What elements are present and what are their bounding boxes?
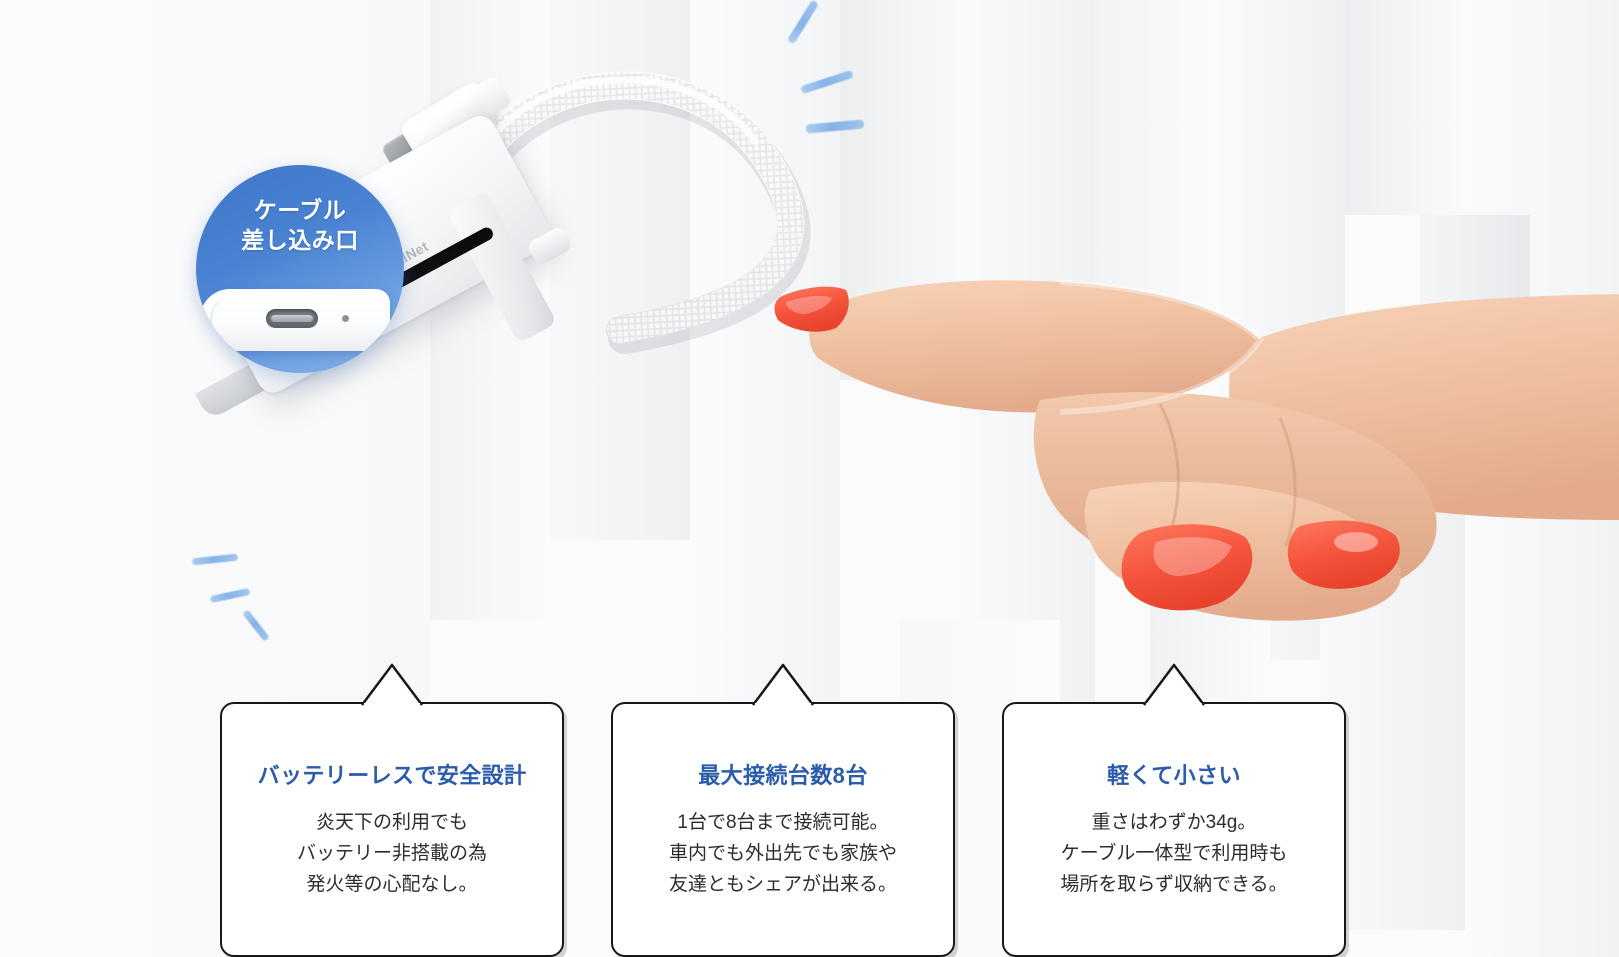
usb-c-port-icon: [266, 309, 318, 328]
feature-title: 最大接続台数8台: [613, 704, 953, 790]
product-image: GlocalNet: [0, 0, 860, 660]
pointing-hand: [760, 190, 1619, 710]
hero-stage: GlocalNet ケーブル 差し込み口: [0, 0, 1619, 957]
feature-card-batteryless[interactable]: バッテリーレスで安全設計 炎天下の利用でも バッテリー非搭載の為 発火等の心配な…: [220, 702, 564, 957]
hand-illustration: [760, 190, 1619, 710]
feature-card-max-devices[interactable]: 最大接続台数8台 1台で8台まで接続可能。 車内でも外出先でも家族や 友達ともシ…: [611, 702, 955, 957]
zoom-callout-label-line2: 差し込み口: [196, 225, 404, 255]
feature-title: 軽くて小さい: [1004, 704, 1344, 790]
feature-card-light-small[interactable]: 軽くて小さい 重さはわずか34g。 ケーブル一体型で利用時も 場所を取らず収納で…: [1002, 702, 1346, 957]
zoom-callout-label: ケーブル 差し込み口: [196, 195, 404, 256]
cable-port-zoom-callout: ケーブル 差し込み口: [196, 165, 404, 373]
feature-body: 1台で8台まで接続可能。 車内でも外出先でも家族や 友達ともシェアが出来る。: [613, 790, 953, 900]
feature-callouts: バッテリーレスで安全設計 炎天下の利用でも バッテリー非搭載の為 発火等の心配な…: [0, 668, 1619, 957]
zoom-callout-label-line1: ケーブル: [196, 195, 404, 225]
callout-tail-icon: [362, 664, 422, 706]
callout-tail-icon: [753, 664, 813, 706]
feature-body: 炎天下の利用でも バッテリー非搭載の為 発火等の心配なし。: [222, 790, 562, 900]
device-edge-highlight: [210, 297, 246, 343]
callout-tail-icon: [1144, 664, 1204, 706]
feature-body: 重さはわずか34g。 ケーブル一体型で利用時も 場所を取らず収納できる。: [1004, 790, 1344, 900]
led-indicator-icon: [342, 315, 349, 322]
zoomed-device-end: [200, 289, 390, 351]
feature-title: バッテリーレスで安全設計: [222, 704, 562, 790]
bg-panel: [1345, 0, 1465, 215]
